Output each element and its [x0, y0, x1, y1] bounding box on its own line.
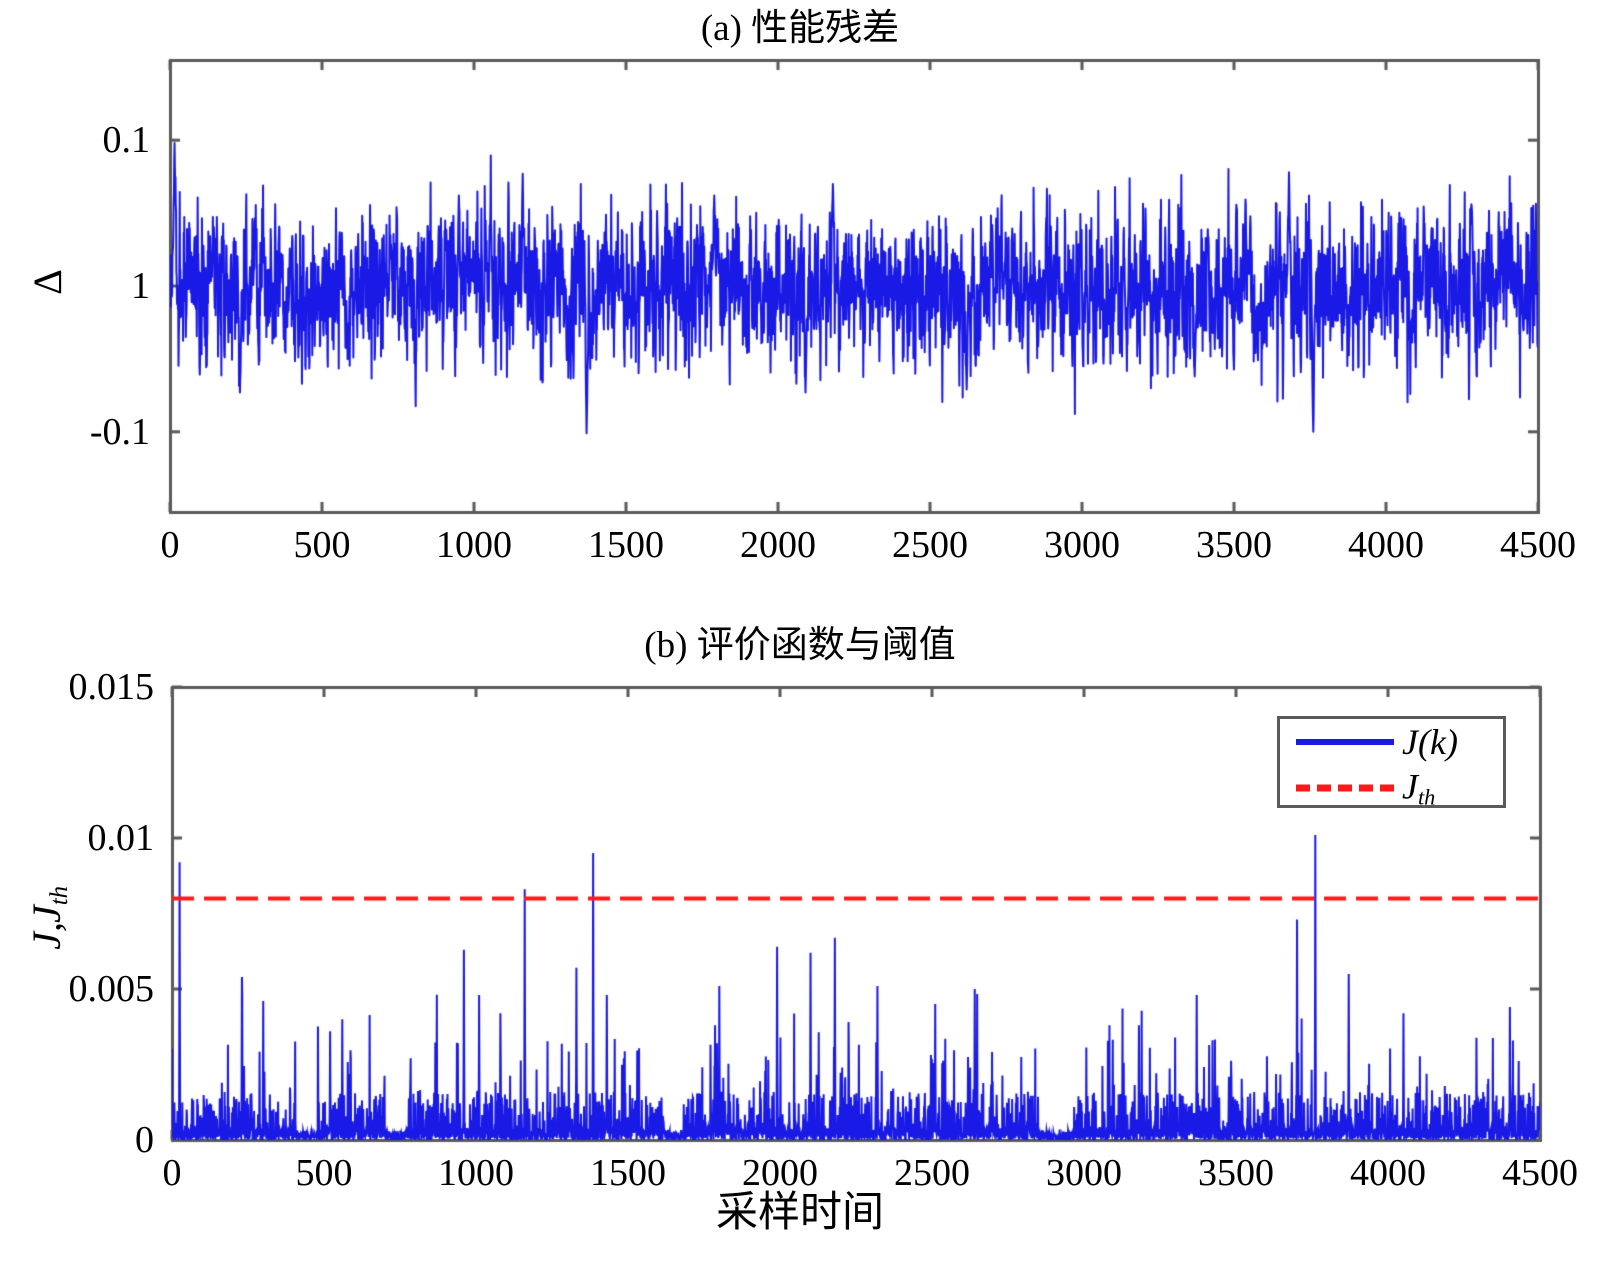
- panel-b-ytick-3: 0: [0, 1121, 154, 1159]
- legend-jk-j: J: [1402, 722, 1418, 762]
- panel-a-ytick-2: -0.1: [10, 413, 150, 451]
- panel-a-xtick-3: 1500: [588, 526, 664, 564]
- panel-b-xtick-6: 3000: [1046, 1154, 1122, 1192]
- panel-a-xtick-4: 2000: [740, 526, 816, 564]
- panel-b-xtick-5: 2500: [894, 1154, 970, 1192]
- panel-b-xtick-4: 2000: [742, 1154, 818, 1192]
- panel-a-xtick-0: 0: [161, 526, 180, 564]
- panel-b-xtick-0: 0: [163, 1154, 182, 1192]
- panel-a-xtick-1: 500: [294, 526, 351, 564]
- panel-a-xtick-2: 1000: [436, 526, 512, 564]
- panel-b-xtick-1: 500: [296, 1154, 353, 1192]
- panel-b-ytick-1: 0.01: [0, 819, 154, 857]
- legend-jth-sub: th: [1418, 785, 1435, 810]
- panel-b-ytick-0: 0.015: [0, 668, 154, 706]
- legend-entry-jk[interactable]: J(k): [1280, 719, 1509, 765]
- legend-swatch-dashdot-line: [1296, 785, 1394, 792]
- legend-jk-paren-close: ): [1446, 722, 1458, 762]
- panel-b-ytick-2: 0.005: [0, 970, 154, 1008]
- panel-a-ytick-1: 1: [10, 267, 150, 305]
- panel-b-xtick-2: 1000: [438, 1154, 514, 1192]
- figure-root: (a) 性能残差 Δ (b) 评价函数与阈值 J,Jth 采样时间 0.11-0…: [0, 0, 1600, 1276]
- ylabel-b-comma: ,: [24, 923, 69, 932]
- ylabel-b-j2: J: [24, 905, 69, 923]
- panel-b-legend[interactable]: J(k) Jth: [1277, 716, 1506, 808]
- legend-swatch-solid-line: [1296, 739, 1394, 745]
- ylabel-b-sub: th: [46, 886, 73, 905]
- ylabel-b-j1: J: [24, 932, 69, 950]
- panel-a-ytick-0: 0.1: [10, 121, 150, 159]
- legend-jth-j: J: [1402, 766, 1418, 806]
- panel-b-xlabel: 采样时间: [0, 1192, 1600, 1234]
- panel-b-xtick-9: 4500: [1502, 1154, 1578, 1192]
- panel-b-title: (b) 评价函数与阈值: [0, 627, 1600, 664]
- legend-jk-var: k: [1430, 722, 1446, 762]
- panel-a-xtick-8: 4000: [1348, 526, 1424, 564]
- legend-label-jth: Jth: [1402, 765, 1435, 810]
- panel-a-xtick-5: 2500: [892, 526, 968, 564]
- panel-a-xtick-7: 3500: [1196, 526, 1272, 564]
- panel-a-xtick-9: 4500: [1500, 526, 1576, 564]
- legend-jk-paren-open: (: [1418, 722, 1430, 762]
- panel-a-title: (a) 性能残差: [0, 10, 1600, 47]
- legend-entry-jth[interactable]: Jth: [1280, 765, 1509, 811]
- panel-a-xtick-6: 3000: [1044, 526, 1120, 564]
- legend-label-jk: J(k): [1402, 721, 1458, 763]
- panel-b-xtick-7: 3500: [1198, 1154, 1274, 1192]
- panel-b-xtick-3: 1500: [590, 1154, 666, 1192]
- panel-b-xtick-8: 4000: [1350, 1154, 1426, 1192]
